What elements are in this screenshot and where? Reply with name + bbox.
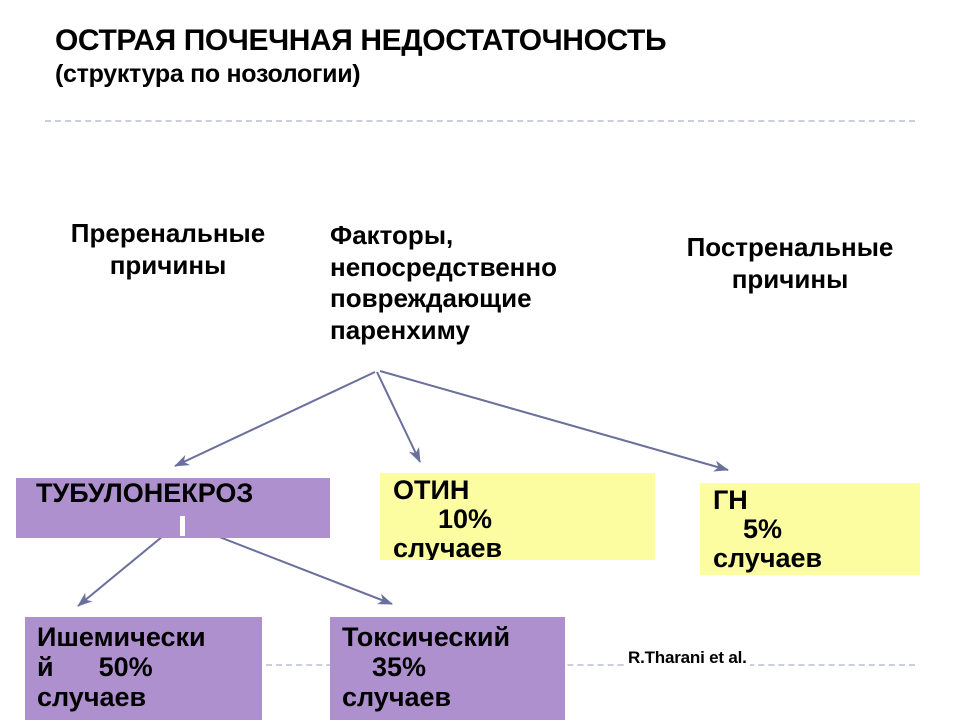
box-tubulonecrosis[interactable]: ТУБУЛОНЕКРОЗ xyxy=(16,478,330,538)
arrow-layer xyxy=(0,0,960,720)
tick-mark-icon xyxy=(180,516,185,536)
slide-root: ОСТРАЯ ПОЧЕЧНАЯ НЕДОСТАТОЧНОСТЬ (структу… xyxy=(0,0,960,720)
arrow-parenchyma-to-otin xyxy=(377,372,420,462)
box-otin-label: ОТИН xyxy=(393,476,655,505)
box-tubulonecrosis-label: ТУБУЛОНЕКРОЗ xyxy=(36,479,330,509)
heading-parenchyma-damaging-factors: Факторы, непосредственно повреждающие па… xyxy=(330,220,640,347)
box-ischemic-label: Ишемически xyxy=(37,622,262,652)
box-otin[interactable]: ОТИН 10% случаев xyxy=(380,473,655,560)
box-ischemic-unit: случаев xyxy=(37,682,262,712)
box-ischemic[interactable]: Ишемически й 50% случаев xyxy=(25,617,262,720)
arrow-parenchyma-to-gn xyxy=(380,371,728,470)
heading-prerenal-causes: Преренальные причины xyxy=(18,218,318,281)
box-gn[interactable]: ГН 5% случаев xyxy=(700,483,920,575)
arrow-parenchyma-to-tubulonecrosis xyxy=(175,372,375,466)
box-gn-label: ГН xyxy=(713,486,920,515)
heading-prerenal-text: Преренальные причины xyxy=(71,218,265,280)
heading-postrenal-causes: Постренальные причины xyxy=(640,232,940,295)
title-primary: ОСТРАЯ ПОЧЕЧНАЯ НЕДОСТАТОЧНОСТЬ xyxy=(55,24,895,58)
heading-parenchyma-text: Факторы, непосредственно повреждающие па… xyxy=(330,220,557,345)
citation-source: R.Tharani et al. xyxy=(625,648,750,668)
box-toxic-unit: случаев xyxy=(342,682,565,712)
box-gn-percent: 5% xyxy=(713,515,920,544)
box-toxic-label: Токсический xyxy=(342,622,565,652)
page-title: ОСТРАЯ ПОЧЕЧНАЯ НЕДОСТАТОЧНОСТЬ (структу… xyxy=(55,24,895,88)
box-otin-percent: 10% xyxy=(393,505,655,534)
box-toxic-percent: 35% xyxy=(342,652,565,682)
box-otin-unit: случаев xyxy=(393,534,655,560)
heading-postrenal-text: Постренальные причины xyxy=(687,232,894,294)
divider-top xyxy=(45,120,915,122)
box-gn-unit: случаев xyxy=(713,544,920,573)
box-ischemic-percent: й 50% xyxy=(37,652,262,682)
box-toxic[interactable]: Токсический 35% случаев xyxy=(330,617,565,720)
title-subtitle: (структура по нозологии) xyxy=(55,60,895,89)
